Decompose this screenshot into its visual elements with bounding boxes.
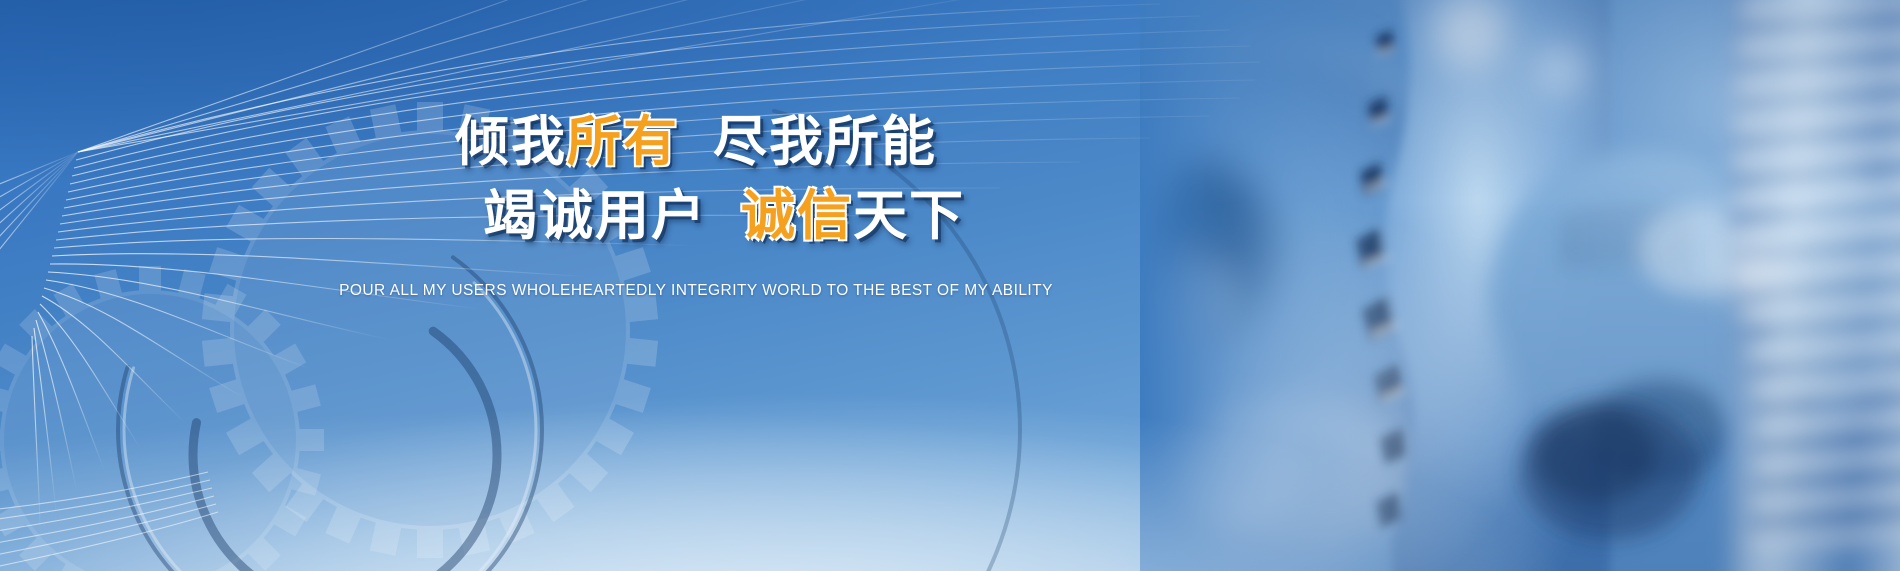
headline-line-2: 竭诚用户诚信天下 (0, 180, 1392, 252)
headline-line-1: 倾我所有尽我所能 (0, 106, 1392, 178)
headline-seg-accent: 诚信 (741, 184, 853, 247)
banner-subtitle: POUR ALL MY USERS WHOLEHEARTEDLY INTEGRI… (0, 282, 1392, 300)
headline-seg: 天下 (853, 184, 965, 247)
headline-seg: 竭诚用户 (483, 184, 707, 247)
headline-seg: 尽我所能 (713, 110, 937, 173)
headline-seg-accent: 所有 (567, 110, 679, 173)
hero-banner: 倾我所有尽我所能 竭诚用户诚信天下 POUR ALL MY USERS WHOL… (0, 0, 1900, 571)
banner-copy: 倾我所有尽我所能 竭诚用户诚信天下 POUR ALL MY USERS WHOL… (0, 106, 1392, 300)
headline-seg: 倾我 (455, 110, 567, 173)
